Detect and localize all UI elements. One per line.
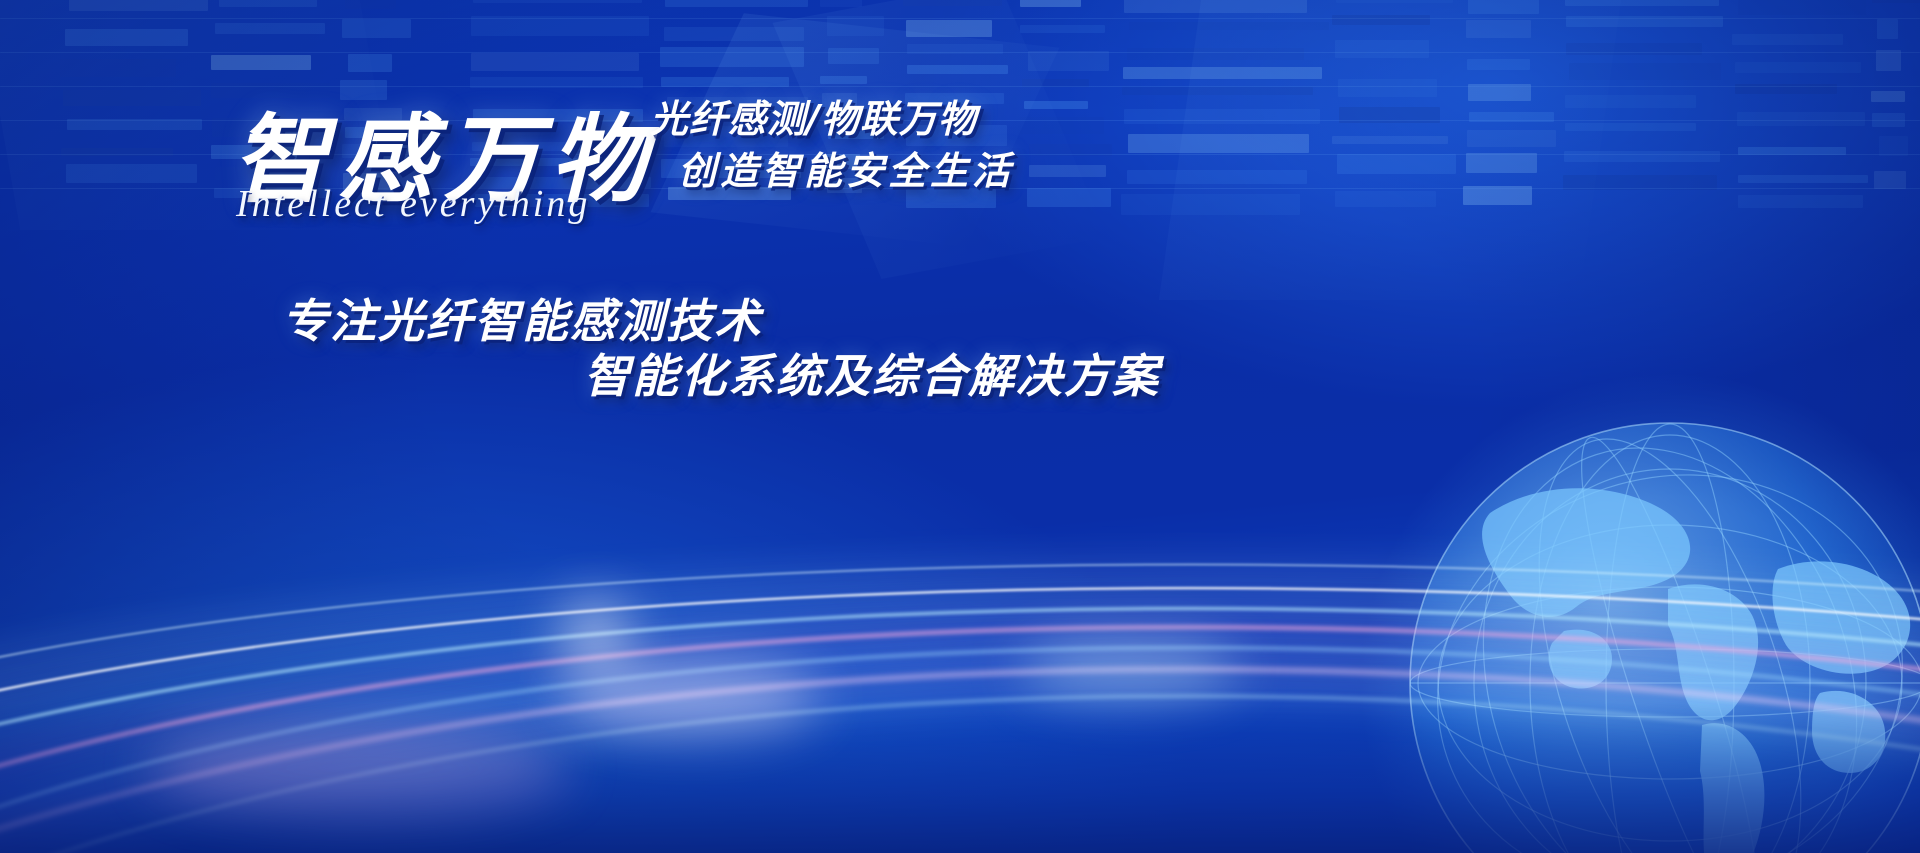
flare-2	[1020, 638, 1240, 698]
flare-4	[560, 600, 630, 670]
subtitle-english: Intellect everything	[236, 182, 590, 226]
banner-hero: 智感万物 Intellect everything 光纤感测/物联万物 创造智能…	[0, 0, 1920, 853]
tagline-line-2: 智能化系统及综合解决方案	[584, 340, 1160, 406]
slogan-line-2: 创造智能安全生活	[678, 140, 1014, 195]
flare-1	[560, 663, 820, 733]
slogan-line-1: 光纤感测/物联万物	[650, 88, 977, 143]
flare-3	[150, 723, 570, 813]
